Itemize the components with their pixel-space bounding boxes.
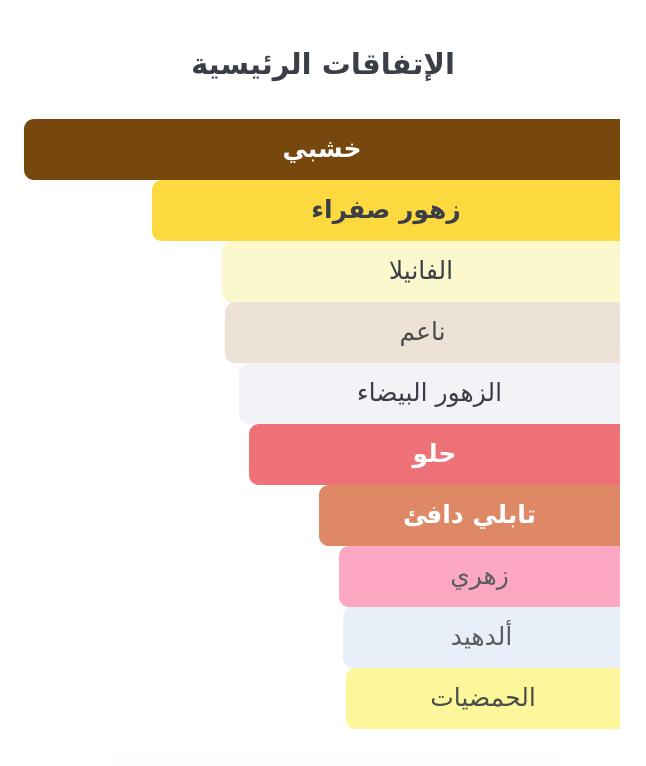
- funnel-row: خشبي: [0, 119, 646, 180]
- funnel-chart: خشبيزهور صفراءالفانيلاناعمالزهور البيضاء…: [0, 119, 646, 729]
- funnel-bar-label: الحمضيات: [430, 683, 536, 715]
- funnel-row: حلو: [0, 424, 646, 485]
- funnel-bar[interactable]: حلو: [249, 424, 620, 485]
- funnel-bar[interactable]: زهري: [339, 546, 620, 607]
- funnel-row: ألدهيد: [0, 607, 646, 668]
- funnel-bar-label: زهري: [450, 561, 509, 593]
- funnel-bar-label: تابلي دافئ: [403, 500, 536, 532]
- funnel-bar-label: زهور صفراء: [311, 195, 461, 227]
- funnel-row: الحمضيات: [0, 668, 646, 729]
- funnel-row: الزهور البيضاء: [0, 363, 646, 424]
- page-title: الإتفاقات الرئيسية: [0, 44, 646, 84]
- funnel-bar-label: ألدهيد: [451, 622, 513, 654]
- funnel-bar[interactable]: تابلي دافئ: [319, 485, 620, 546]
- funnel-bar-label: الزهور البيضاء: [357, 378, 502, 410]
- funnel-bar[interactable]: الحمضيات: [346, 668, 620, 729]
- funnel-row: الفانيلا: [0, 241, 646, 302]
- funnel-bar[interactable]: ألدهيد: [343, 607, 620, 668]
- funnel-row: ناعم: [0, 302, 646, 363]
- funnel-bar[interactable]: زهور صفراء: [152, 180, 620, 241]
- funnel-bar-label: خشبي: [283, 134, 362, 166]
- funnel-bar[interactable]: ناعم: [225, 302, 620, 363]
- funnel-row: تابلي دافئ: [0, 485, 646, 546]
- funnel-bar-label: حلو: [413, 439, 457, 471]
- funnel-bar[interactable]: خشبي: [24, 119, 620, 180]
- funnel-bar-label: الفانيلا: [389, 256, 453, 288]
- funnel-row: زهور صفراء: [0, 180, 646, 241]
- next-card-peek: [110, 752, 560, 766]
- funnel-chart-page: الإتفاقات الرئيسية خشبيزهور صفراءالفانيل…: [0, 0, 646, 765]
- funnel-bar-label: ناعم: [399, 317, 445, 349]
- funnel-row: زهري: [0, 546, 646, 607]
- funnel-bar[interactable]: الزهور البيضاء: [239, 363, 620, 424]
- funnel-bar[interactable]: الفانيلا: [222, 241, 620, 302]
